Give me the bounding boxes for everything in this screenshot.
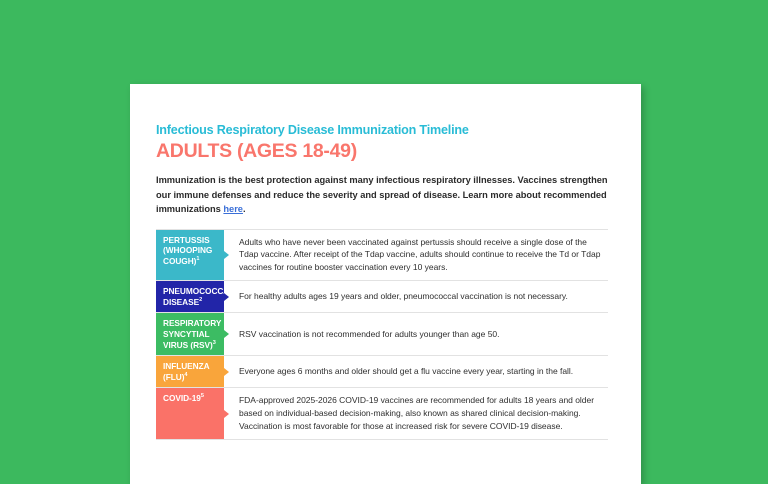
- timeline-row-description-text: Adults who have never been vaccinated ag…: [239, 236, 606, 275]
- intro-paragraph: Immunization is the best protection agai…: [156, 173, 608, 216]
- timeline-row-description-text: FDA-approved 2025-2026 COVID-19 vaccines…: [239, 394, 606, 433]
- timeline-row-description-respiratory-syncytial-virus-rsv: RSV vaccination is not recommended for a…: [224, 313, 608, 355]
- timeline-row-footnote-marker: 1: [196, 256, 199, 262]
- page-title: ADULTS (AGES 18-49): [156, 141, 615, 162]
- timeline-row-label-pneumococcal-disease: PNEUMOCOCCAL DISEASE2: [156, 281, 224, 312]
- timeline-row-label-text: INFLUENZA (FLU)4: [163, 361, 220, 382]
- timeline-row-footnote-marker: 4: [184, 372, 187, 378]
- timeline-row-label-text: PERTUSSIS (WHOOPING COUGH)1: [163, 235, 220, 267]
- timeline-row-label-text: RESPIRATORY SYNCYTIAL VIRUS (RSV)3: [163, 318, 221, 350]
- timeline-row-label-pertussis-whooping-cough: PERTUSSIS (WHOOPING COUGH)1: [156, 230, 224, 281]
- card-content: Infectious Respiratory Disease Immunizat…: [130, 84, 641, 440]
- timeline-row-description-pneumococcal-disease: For healthy adults ages 19 years and old…: [224, 281, 608, 312]
- timeline-row-description-text: RSV vaccination is not recommended for a…: [239, 328, 499, 341]
- chevron-right-icon: [224, 293, 229, 301]
- timeline-row-footnote-marker: 5: [201, 394, 204, 400]
- chevron-right-icon: [224, 251, 229, 259]
- timeline-row: INFLUENZA (FLU)4Everyone ages 6 months a…: [156, 356, 608, 388]
- timeline-row-description-text: For healthy adults ages 19 years and old…: [239, 290, 568, 303]
- chevron-right-icon: [224, 410, 229, 418]
- timeline-row-label-influenza-flu: INFLUENZA (FLU)4: [156, 356, 224, 387]
- timeline-row: COVID-195FDA-approved 2025-2026 COVID-19…: [156, 388, 608, 440]
- timeline-row-label-text: COVID-195: [163, 393, 204, 404]
- timeline-row-description-pertussis-whooping-cough: Adults who have never been vaccinated ag…: [224, 230, 608, 281]
- timeline-row: PNEUMOCOCCAL DISEASE2For healthy adults …: [156, 281, 608, 313]
- timeline-row-label-respiratory-syncytial-virus-rsv: RESPIRATORY SYNCYTIAL VIRUS (RSV)3: [156, 313, 224, 355]
- learn-more-here-link[interactable]: here: [223, 204, 243, 214]
- timeline-row-footnote-marker: 3: [213, 340, 216, 346]
- timeline-row-footnote-marker: 2: [199, 297, 202, 303]
- timeline-row: RESPIRATORY SYNCYTIAL VIRUS (RSV)3RSV va…: [156, 313, 608, 356]
- chevron-right-icon: [224, 330, 229, 338]
- page-eyebrow-title: Infectious Respiratory Disease Immunizat…: [156, 124, 615, 138]
- chevron-right-icon: [224, 368, 229, 376]
- timeline-table: PERTUSSIS (WHOOPING COUGH)1Adults who ha…: [156, 229, 608, 441]
- intro-text-after-link: .: [243, 204, 246, 214]
- timeline-row-description-text: Everyone ages 6 months and older should …: [239, 365, 573, 378]
- immunization-timeline-card: Infectious Respiratory Disease Immunizat…: [130, 84, 641, 484]
- timeline-row-description-influenza-flu: Everyone ages 6 months and older should …: [224, 356, 608, 387]
- timeline-row: PERTUSSIS (WHOOPING COUGH)1Adults who ha…: [156, 230, 608, 282]
